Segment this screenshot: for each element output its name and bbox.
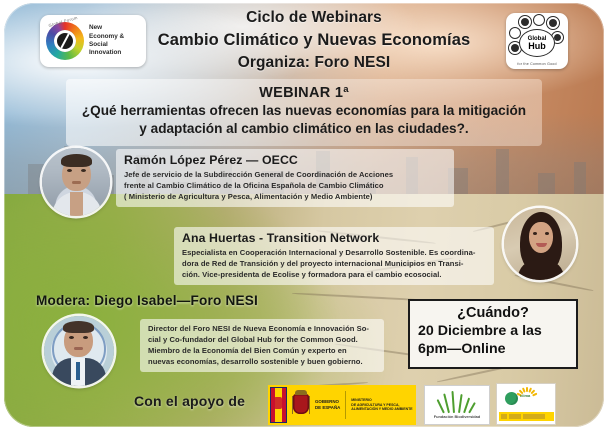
speaker-2-bio-line-3: ción. Vice-presidenta de Ecolise y forma… xyxy=(182,269,486,280)
moderator-bio-line-4: nuevas economías, desarrollo sostenible … xyxy=(148,356,376,367)
webinar-kicker: WEBINAR 1ª xyxy=(76,85,532,101)
moderator-bio: Director del Foro NESI de Nueva Economía… xyxy=(148,323,376,367)
ministerio-text: MINISTERIO DE AGRICULTURA Y PESCA, ALIME… xyxy=(351,398,412,413)
speaker-2-bio-line-2: dora de Red de Transición y del proyecto… xyxy=(182,258,486,269)
title-line-3: Organiza: Foro NESI xyxy=(124,52,504,74)
compass-rosette-icon xyxy=(46,22,84,60)
speaker-1-bio-line-2: frente al Cambio Climático de la Oficina… xyxy=(124,180,446,191)
moderator-block: Director del Foro NESI de Nueva Economía… xyxy=(140,319,384,372)
sponsor-gobierno-de-espana: GOBIERNO DE ESPAÑA MINISTERIO DE AGRICUL… xyxy=(268,385,416,425)
when-line-2: 6pm—Online xyxy=(418,340,568,358)
speaker-block-2: Ana Huertas - Transition Network Especia… xyxy=(174,227,494,285)
clima-label: clima xyxy=(520,393,530,398)
webinar-question-line-2: y adaptación al cambio climático en las … xyxy=(76,120,532,138)
speaker-1-bio-line-3: ( Ministerio de Agricultura y Pesca, Ali… xyxy=(124,191,446,202)
nesi-logo-text: New Economy & Social Innovation xyxy=(89,24,124,58)
speaker-2-name: Ana Huertas - Transition Network xyxy=(182,231,486,245)
when-title: ¿Cuándo? xyxy=(418,305,568,322)
gobierno-line-2: DE ESPAÑA xyxy=(315,405,340,411)
speaker-2-bio-line-1: Especialista en Cooperación Internaciona… xyxy=(182,247,486,258)
global-hub-logo: Global Hub for the Common Good xyxy=(506,13,568,69)
sponsor-fundacion-biodiversidad: Fundación Biodiversidad xyxy=(424,385,490,425)
poster-canvas: New Economy & Social Innovation Global F… xyxy=(4,3,604,427)
webinar-question-line-1: ¿Qué herramientas ofrecen las nuevas eco… xyxy=(76,102,532,120)
when-line-1: 20 Diciembre a las xyxy=(418,322,568,340)
ministerio-line-3: ALIMENTACIÓN Y MEDIO AMBIENTE xyxy=(351,407,412,412)
nesi-logo-line4: Innovation xyxy=(89,49,124,57)
moderator-bio-line-2: cial y Co-fundador del Global Hub for th… xyxy=(148,334,376,345)
page-title: Ciclo de Webinars Cambio Climático y Nue… xyxy=(124,7,504,74)
spain-coat-of-arms-icon xyxy=(290,390,312,420)
support-label: Con el apoyo de xyxy=(134,393,245,409)
green-globe-icon xyxy=(505,392,518,405)
fundacion-biodiversidad-label: Fundación Biodiversidad xyxy=(434,414,480,419)
webinar-question-panel: WEBINAR 1ª ¿Qué herramientas ofrecen las… xyxy=(66,79,542,146)
nesi-logo-line1: New xyxy=(89,24,124,32)
poster-header: New Economy & Social Innovation Global F… xyxy=(4,3,604,77)
hub-word-bottom: Hub xyxy=(528,42,546,51)
speaker-2-bio: Especialista en Cooperación Internaciona… xyxy=(182,247,486,280)
webinar-poster: New Economy & Social Innovation Global F… xyxy=(0,0,608,430)
global-hub-network-icon: Global Hub for the Common Good xyxy=(506,13,568,69)
sponsor-clima: clima xyxy=(496,383,556,425)
avatar-diego-isabel xyxy=(44,316,114,386)
title-line-1: Ciclo de Webinars xyxy=(124,7,504,29)
when-box: ¿Cuándo? 20 Diciembre a las 6pm—Online xyxy=(408,299,578,369)
moderator-label: Modera: Diego Isabel—Foro NESI xyxy=(36,293,258,308)
global-hub-wordmark: Global Hub xyxy=(519,29,555,57)
moderator-bio-line-3: Miembro de la Economía del Bien Común y … xyxy=(148,345,376,356)
speaker-1-name: Ramón López Pérez — OECC xyxy=(124,153,446,167)
nesi-logo-line2: Economy & xyxy=(89,33,124,41)
webinar-question: ¿Qué herramientas ofrecen las nuevas eco… xyxy=(76,102,532,137)
speaker-1-bio: Jefe de servicio de la Subdirección Gene… xyxy=(124,169,446,202)
speaker-block-1: Ramón López Pérez — OECC Jefe de servici… xyxy=(116,149,454,207)
title-line-2: Cambio Climático y Nuevas Economías xyxy=(124,29,504,52)
gobierno-text: GOBIERNO DE ESPAÑA xyxy=(315,399,340,411)
hub-tagline: for the Common Good xyxy=(512,62,562,66)
nesi-logo-line3: Social xyxy=(89,41,124,49)
grass-icon xyxy=(440,391,474,413)
moderator-bio-line-1: Director del Foro NESI de Nueva Economía… xyxy=(148,323,376,334)
spain-flag-icon xyxy=(270,387,287,423)
speaker-1-bio-line-1: Jefe de servicio de la Subdirección Gene… xyxy=(124,169,446,180)
avatar-ramon-lopez-perez xyxy=(42,148,110,216)
clima-footer-bar xyxy=(499,412,554,421)
avatar-ana-huertas xyxy=(504,208,576,280)
